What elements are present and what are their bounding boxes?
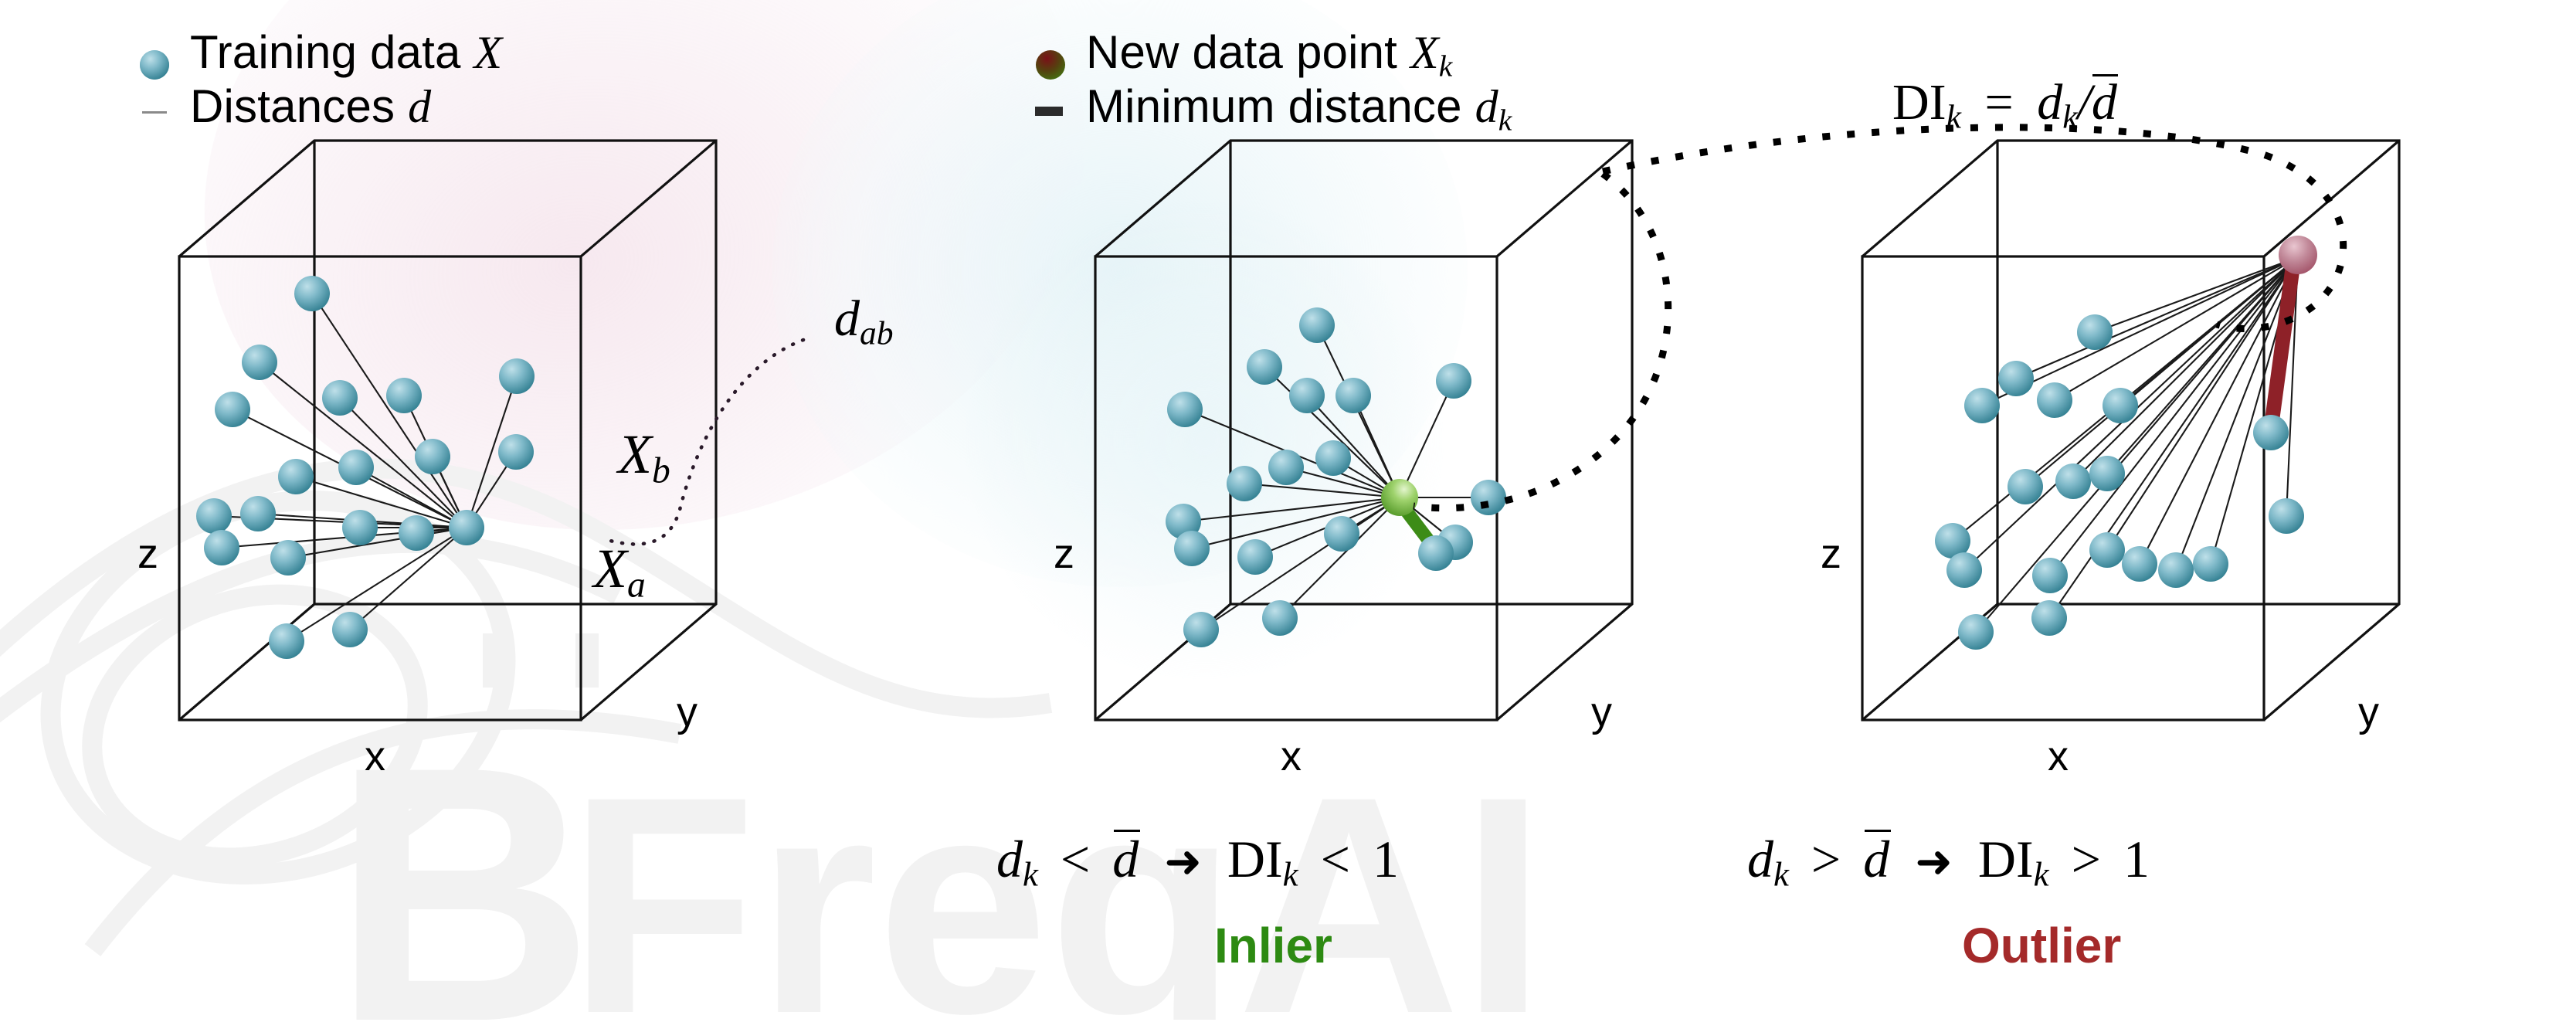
point-label-xa: Xa <box>593 541 646 604</box>
di-formula-numerator: d <box>2037 74 2062 131</box>
nearest-neighbour-outlier <box>2253 415 2289 450</box>
legend-item-new-data-point: New data point Xk <box>1086 29 1453 82</box>
legend-label-minimum-distance: Minimum distance <box>1086 80 1475 132</box>
caption-outlier-di-sub: k <box>2034 855 2049 894</box>
caption-outlier-one: 1 <box>2123 830 2150 888</box>
axis-label-z-outlier: z <box>1821 533 1841 575</box>
nearest-neighbour-inlier <box>1418 535 1454 571</box>
point-label-xb-sub: b <box>652 450 670 491</box>
di-formula-slash: / <box>2078 74 2092 131</box>
legend-item-minimum-distance: Minimum distance dk <box>1086 83 1512 136</box>
caption-outlier-di: DI <box>1978 830 2034 888</box>
caption-outlier-dbar: d <box>1863 833 1889 885</box>
di-formula: DIk = dk/d <box>1892 77 2117 134</box>
point-label-xb: Xb <box>618 426 670 490</box>
caption-outlier-dk-sub: k <box>1773 855 1789 894</box>
cube-wireframe-outlier <box>1862 141 2399 720</box>
caption-inlier-dk-sub: k <box>1023 855 1038 894</box>
legend-marker-distances <box>139 97 170 132</box>
caption-inlier-relation-1: < <box>1051 830 1099 888</box>
legend-marker-training-data <box>137 48 171 86</box>
axis-label-y-training: y <box>677 691 697 733</box>
new-data-point-inlier <box>1381 479 1418 516</box>
legend-symbol-x: X <box>473 27 502 78</box>
di-formula-lhs: DI <box>1892 74 1946 131</box>
axis-label-x-inlier: x <box>1281 735 1302 777</box>
point-label-xa-sym: X <box>593 538 627 599</box>
legend-item-distances: Distances d <box>190 83 431 130</box>
caption-inlier-dbar: d <box>1112 833 1139 885</box>
caption-inlier-di: DI <box>1227 830 1283 888</box>
legend-label-distances: Distances <box>190 80 408 132</box>
legend-symbol-xk-sub: k <box>1439 49 1453 83</box>
legend-symbol-dk-sub: k <box>1498 103 1512 137</box>
axis-label-z-inlier: z <box>1054 533 1074 575</box>
center-point-xa <box>449 510 484 545</box>
axis-label-y-inlier: y <box>1591 691 1612 733</box>
panel-outlier <box>1603 127 2399 720</box>
legend-label-training-data: Training data <box>190 26 473 78</box>
caption-inlier-relation-2: < <box>1312 830 1359 888</box>
new-data-point-outlier <box>2279 236 2317 274</box>
point-label-xb-sym: X <box>618 423 652 485</box>
di-formula-denominator: d <box>2092 77 2117 128</box>
panel-inlier <box>1095 141 1668 720</box>
caption-inlier-dk: d <box>996 830 1023 888</box>
cube-wireframe-inlier <box>1095 141 1632 720</box>
caption-inlier-one: 1 <box>1373 830 1399 888</box>
caption-inlier-arrow: ➜ <box>1152 835 1214 888</box>
axis-label-x-training: x <box>365 735 385 777</box>
distance-label-dab-sym: d <box>834 290 860 347</box>
training-points-outlier <box>1935 314 2304 650</box>
leader-line-outlier <box>1603 127 2344 329</box>
verdict-inlier: Inlier <box>1214 921 1332 970</box>
legend-marker-minimum-distance <box>1032 94 1069 132</box>
axis-label-z-training: z <box>137 533 158 575</box>
di-formula-numerator-sub: k <box>2062 98 2077 135</box>
legend-label-new-data-point: New data point <box>1086 26 1410 78</box>
caption-outlier: dk > d ➜ DIk > 1 <box>1747 833 2150 892</box>
legend-symbol-xk: X <box>1410 27 1439 78</box>
distance-lines-outlier <box>1953 257 2298 632</box>
di-formula-equals: = <box>1974 74 2024 131</box>
point-label-xa-sub: a <box>627 565 646 605</box>
legend-marker-new-data-point <box>1033 48 1067 86</box>
di-formula-lhs-sub: k <box>1946 98 1961 135</box>
caption-inlier: dk < d ➜ DIk < 1 <box>996 833 1399 892</box>
distance-label-dab-sub: ab <box>860 314 894 351</box>
caption-outlier-relation-1: > <box>1802 830 1850 888</box>
training-points-training <box>196 276 535 659</box>
axis-label-x-outlier: x <box>2048 735 2069 777</box>
caption-inlier-di-sub: k <box>1283 855 1298 894</box>
training-points-inlier <box>1166 307 1506 647</box>
verdict-outlier: Outlier <box>1962 921 2121 970</box>
caption-outlier-arrow: ➜ <box>1902 835 1965 888</box>
caption-outlier-dk: d <box>1747 830 1773 888</box>
legend-symbol-d: d <box>408 81 431 132</box>
legend-item-training-data: Training data X <box>190 29 502 76</box>
distance-label-dab: dab <box>834 294 894 351</box>
panel-training-data <box>179 141 803 720</box>
legend-symbol-dk: d <box>1475 81 1498 132</box>
axis-label-y-outlier: y <box>2358 691 2379 733</box>
caption-outlier-relation-2: > <box>2062 830 2110 888</box>
leader-line-inlier <box>1414 174 1668 508</box>
